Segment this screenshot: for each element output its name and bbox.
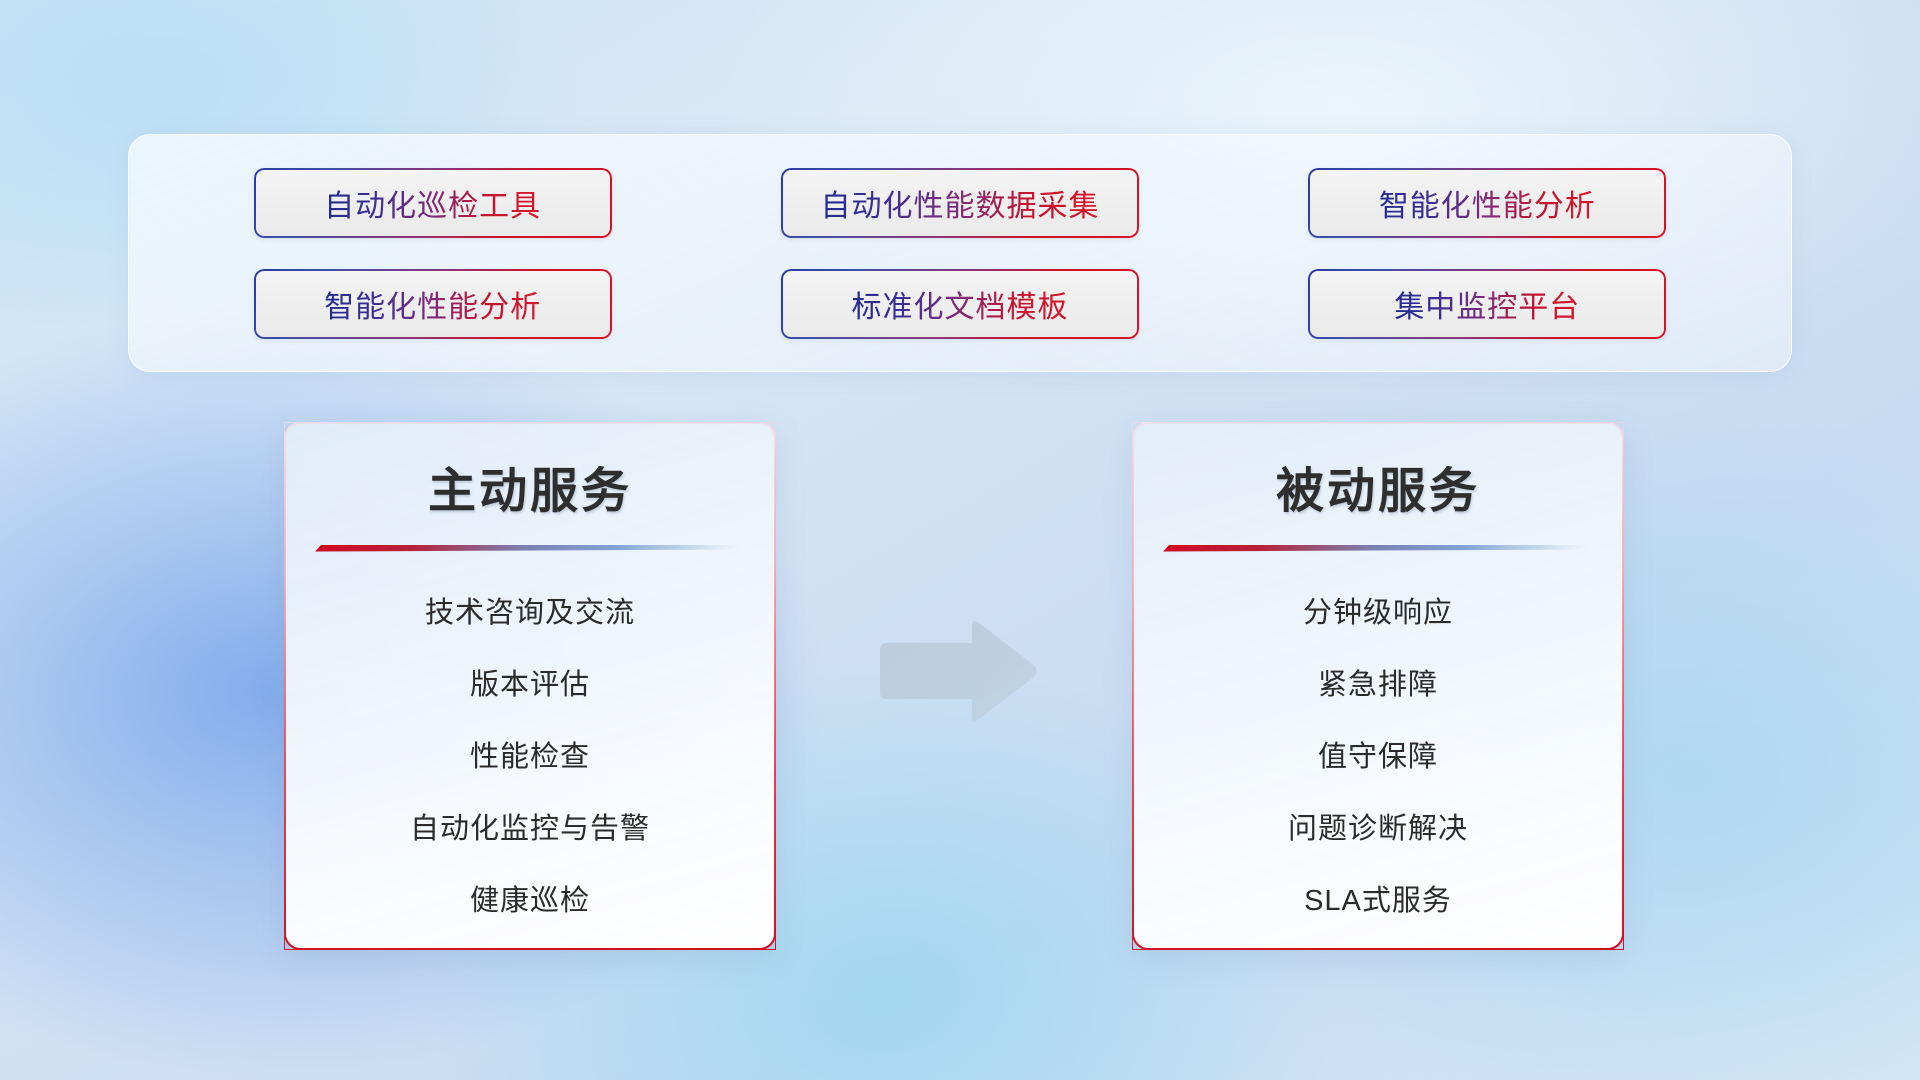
capability-tag-label: 智能化性能分析 [324,282,541,326]
capability-tag[interactable]: 自动化巡检工具 [254,168,612,238]
card-body: 被动服务 [1133,423,1623,949]
capability-tag-label: 自动化巡检工具 [324,181,541,225]
capability-tag[interactable]: 智能化性能分析 [1308,168,1666,238]
capability-tag[interactable]: 标准化文档模板 [781,269,1139,339]
capability-panel: 自动化巡检工具 自动化性能数据采集 智能化性能分析 智能化性能分析 标准化文档模… [128,134,1792,372]
list-item: 性能检查 [285,721,775,793]
list-item: 健康巡检 [285,865,775,937]
card-title-divider [1163,543,1593,555]
capability-tag-label: 自动化性能数据采集 [820,181,1099,225]
list-item: 自动化监控与告警 [285,793,775,865]
list-item: 技术咨询及交流 [285,577,775,649]
capability-tag[interactable]: 集中监控平台 [1308,269,1666,339]
list-item: 分钟级响应 [1133,577,1623,649]
list-item: 值守保障 [1133,721,1623,793]
capability-tag[interactable]: 自动化性能数据采集 [781,168,1139,238]
list-item: SLA式服务 [1133,865,1623,937]
arrow-right-icon [872,616,1042,726]
card-body: 主动服务 [285,423,775,949]
service-card-active: 主动服务 [284,422,776,950]
service-card-passive: 被动服务 [1132,422,1624,950]
list-item: 版本评估 [285,649,775,721]
capability-tag[interactable]: 智能化性能分析 [254,269,612,339]
list-item: 紧急排障 [1133,649,1623,721]
service-item-list: 技术咨询及交流 版本评估 性能检查 自动化监控与告警 健康巡检 [285,577,775,937]
service-item-list: 分钟级响应 紧急排障 值守保障 问题诊断解决 SLA式服务 [1133,577,1623,937]
card-title-divider [315,543,745,555]
card-title: 主动服务 [428,451,632,521]
slide-canvas: 自动化巡检工具 自动化性能数据采集 智能化性能分析 智能化性能分析 标准化文档模… [0,0,1920,1080]
card-title: 被动服务 [1276,451,1480,521]
capability-tag-label: 标准化文档模板 [851,282,1068,326]
capability-tag-grid: 自动化巡检工具 自动化性能数据采集 智能化性能分析 智能化性能分析 标准化文档模… [129,135,1791,371]
capability-tag-label: 集中监控平台 [1394,282,1580,326]
list-item: 问题诊断解决 [1133,793,1623,865]
capability-tag-label: 智能化性能分析 [1379,181,1596,225]
